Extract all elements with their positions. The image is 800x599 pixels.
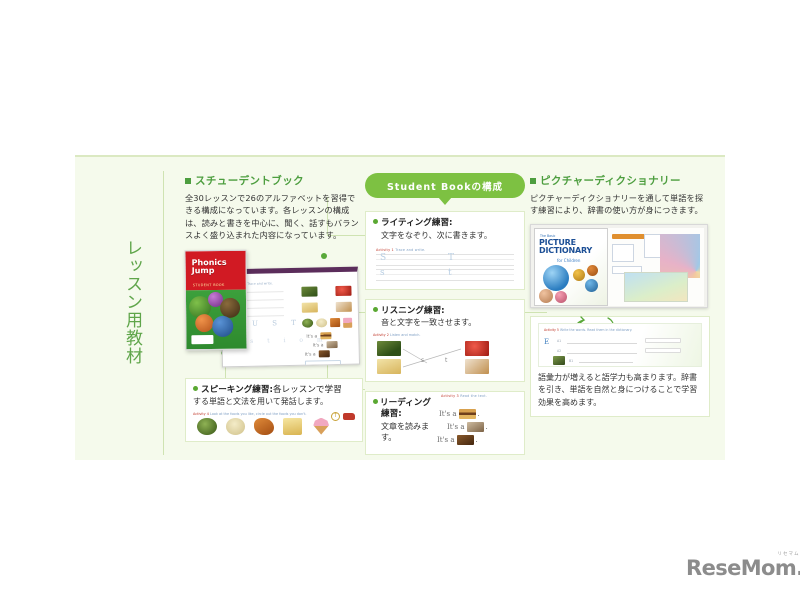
phonics-jump-book-cover: Phonics Jump STUDENT BOOK (184, 250, 247, 351)
speaking-title-rest: 各レッスンで学習 (273, 385, 342, 395)
student-book-body: 全30レッスンで26のアルファベットを習得できる構成になっています。各レッスンの… (185, 192, 363, 242)
speaking-title-text: スピーキング練習: (201, 385, 273, 395)
note-mock-label-a1: A1 (557, 339, 561, 343)
bullet-dot-icon (193, 386, 198, 391)
student-book-heading-text: スチューデントブック (195, 173, 304, 188)
dictionary-title-line2: DICTIONARY (539, 246, 592, 255)
picture-dictionary-heading-text: ピクチャーディクショナリー (540, 173, 681, 188)
speaking-mock-text: Look at the foods you like, circle out t… (210, 412, 307, 416)
reading-mock: Activity 3 Read the text. It's a . It's … (437, 398, 517, 448)
picture-dictionary-body: ピクチャーディクショナリーを通して単語を探す練習により、辞書の使い方が身につきま… (530, 192, 710, 217)
reading-sub: 文章を読みます。 (373, 421, 431, 443)
speaking-mock-tag-text: Activity 4 (193, 412, 209, 416)
card-speaking: スピーキング練習:各レッスンで学習 する単語と文法を用いて発話します。 Acti… (185, 378, 363, 442)
student-book-badge-wrap: Student Bookの構成 (365, 173, 525, 198)
writing-row-lower: s t (376, 267, 514, 282)
card-reading: リーディング 練習: 文章を読みます。 Activity 3 Read the … (365, 391, 525, 455)
food-salad-icon (197, 418, 217, 435)
listening-label-s: s (421, 357, 424, 364)
speaking-mock: Activity 4 Look at the foods you like, c… (193, 412, 355, 435)
writing-title-text: ライティング練習: (381, 218, 453, 230)
infographic-page: レッスン用教材 スチューデントブック 全30レッスンで26のアルファベットを習得… (0, 0, 800, 599)
reading-thumb-burger (459, 409, 476, 419)
student-book-heading: スチューデントブック (185, 173, 363, 188)
writing-sub: 文字をなぞり、次に書きます。 (373, 230, 517, 241)
reading-mock-tag-text: Activity 3 (441, 394, 459, 398)
reading-sentence-3: It's a (437, 436, 455, 444)
note-mock-text: Write the words. Read them in the dictio… (560, 328, 632, 332)
note-mock-photo (553, 356, 565, 365)
picture-dictionary-media: The Basic PICTURE DICTIONARY for Childre… (530, 224, 708, 308)
globe-icon (543, 265, 569, 291)
speaking-title: スピーキング練習:各レッスンで学習 (193, 385, 355, 397)
bullet-dot-icon (373, 219, 378, 224)
card-listening: リスニング練習: 音と文字を一致させます。 Activity 2 Listen … (365, 299, 525, 382)
content-panel: レッスン用教材 スチューデントブック 全30レッスンで26のアルファベットを習得… (75, 155, 725, 460)
listening-label-t: t (445, 357, 447, 364)
note-mock-letter: E (544, 338, 549, 346)
dictionary-book-cover: The Basic PICTURE DICTIONARY for Childre… (534, 228, 608, 306)
note-mock-label-b: B1 (569, 359, 573, 363)
card-writing: ライティング練習: 文字をなぞり、次に書きます。 Activity 1 Trac… (365, 211, 525, 290)
tablet-activity-text: Trace and write. (247, 281, 273, 286)
listening-title: リスニング練習: (373, 306, 517, 318)
note-mock-tag-text: Activity 5 (544, 328, 559, 332)
dictionary-note-text: 語彙力が増えると語学力も高まります。辞書を引き、単語を自然と身につけることで学習… (538, 372, 702, 409)
resemom-logo-text: ReseMom. (686, 556, 800, 580)
writing-glyph-t: t (448, 268, 452, 278)
note-mock-tag: Activity 5 Write the words. Read them in… (544, 328, 632, 332)
publisher-logo (191, 335, 213, 344)
book-title-line2: Jump (192, 266, 215, 275)
book-subtitle: STUDENT BOOK (193, 283, 225, 287)
reading-title-line1: リーディング (380, 398, 431, 408)
listening-title-text: リスニング練習: (381, 306, 445, 318)
reading-line-1: It's a . (439, 409, 517, 419)
listening-match-lines (373, 333, 513, 375)
writing-glyph-T: T (448, 253, 454, 263)
picture-dictionary-heading: ピクチャーディクショナリー (530, 173, 710, 188)
bullet-dot-icon (373, 307, 378, 312)
writing-glyph-s: s (380, 268, 385, 278)
food-rice-icon (226, 418, 246, 435)
reading-thumb-nut (467, 422, 484, 432)
reading-line-2: It's a . (447, 422, 517, 432)
food-icecream-icon (311, 418, 331, 435)
listening-sub: 音と文字を一致させます。 (373, 317, 517, 328)
reading-thumb-choc (457, 435, 474, 445)
dictionary-worksheet-mock: Activity 5 Write the words. Read them in… (538, 323, 702, 367)
dictionary-cover-title: PICTURE DICTIONARY (539, 239, 592, 256)
dictionary-spread-image: The Basic PICTURE DICTIONARY for Childre… (530, 224, 708, 308)
dictionary-inner-page (608, 228, 704, 306)
reading-mock-text: Read the text. (460, 394, 487, 398)
speaking-sub: する単語と文法を用いて発話します。 (193, 396, 355, 407)
column-student-book: スチューデントブック 全30レッスンで26のアルファベットを習得できる構成になっ… (185, 173, 363, 442)
writing-worksheet-mock: Activity 1 Trace and write. S T s t (373, 246, 517, 283)
vertical-divider (163, 171, 164, 455)
food-chicken-icon (254, 418, 274, 435)
dictionary-map-art (624, 272, 688, 302)
square-bullet-icon (530, 178, 536, 184)
token-icon: T (331, 412, 340, 421)
reading-title: リーディング 練習: (373, 398, 431, 421)
column-picture-dictionary: ピクチャーディクショナリー ピクチャーディクショナリーを通して単語を探す練習によ… (530, 173, 710, 417)
car-icon (343, 413, 355, 420)
column-student-book-structure: Student Bookの構成 ライティング練習: 文字をなぞり、次に書きます。… (365, 173, 525, 455)
dictionary-cover-subtitle: for Children (557, 258, 580, 263)
vertical-section-label: レッスン用教材 (108, 239, 142, 365)
student-book-badge: Student Bookの構成 (365, 173, 525, 198)
bullet-dot-icon (373, 399, 378, 404)
listening-mock: Activity 2 Listen and match. s t (373, 333, 517, 375)
note-mock-label-a2: A2 (557, 349, 561, 353)
reading-mock-tag: Activity 3 Read the text. (441, 394, 487, 398)
speaking-mock-tag: Activity 4 Look at the foods you like, c… (193, 412, 355, 416)
badge-arrow-icon (438, 197, 452, 205)
student-book-media: Activity 1 Trace and write. Q U S T u s … (185, 250, 360, 368)
reading-sentence-1: It's a (439, 410, 457, 418)
reading-sentence-2: It's a (447, 423, 465, 431)
book-title: Phonics Jump (192, 259, 227, 276)
speaking-food-row (193, 418, 331, 435)
reading-line-3: It's a . (437, 435, 517, 445)
square-bullet-icon (185, 178, 191, 184)
resemom-logo-kana: リセマム (778, 551, 800, 557)
food-cake-icon (283, 418, 303, 435)
writing-glyph-S: S (380, 253, 386, 263)
writing-row-upper: S T (376, 252, 514, 267)
reading-title-line2: 練習: (373, 409, 402, 419)
writing-title: ライティング練習: (373, 218, 517, 230)
dictionary-note-card: Activity 5 Write the words. Read them in… (530, 316, 710, 417)
reading-text-block: リーディング 練習: 文章を読みます。 (373, 398, 431, 448)
resemom-logo: ReseMom. リセマム (686, 556, 800, 580)
